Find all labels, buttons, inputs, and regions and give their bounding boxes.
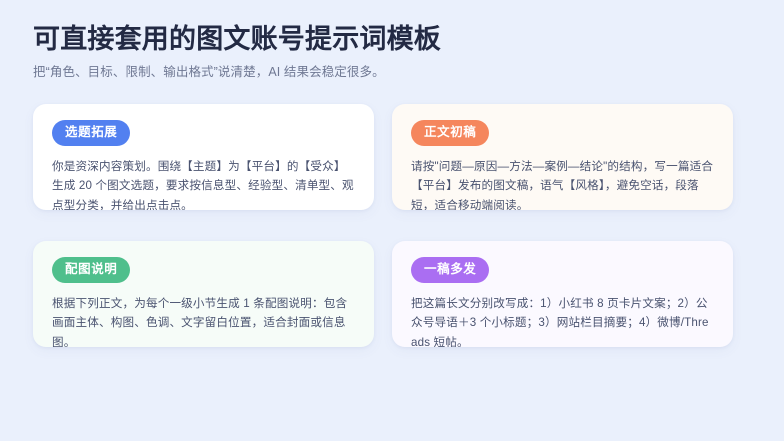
card-body-text: 根据下列正文，为每个一级小节生成 1 条配图说明：包含画面主体、构图、色调、文字… [52,294,355,348]
page-subtitle: 把“角色、目标、限制、输出格式”说清楚，AI 结果会稳定很多。 [33,62,733,82]
prompt-card-image-caption[interactable]: 配图说明 根据下列正文，为每个一级小节生成 1 条配图说明：包含画面主体、构图、… [33,241,374,347]
page-title: 可直接套用的图文账号提示词模板 [33,22,733,56]
prompt-card-multi-publish[interactable]: 一稿多发 把这篇长文分别改写成：1）小红书 8 页卡片文案；2）公众号导语＋3 … [392,241,733,347]
card-badge: 正文初稿 [411,120,489,146]
card-badge: 一稿多发 [411,257,489,283]
card-body-text: 你是资深内容策划。围绕【主题】为【平台】的【受众】生成 20 个图文选题，要求按… [52,157,355,211]
prompt-card-draft[interactable]: 正文初稿 请按"问题—原因—方法—案例—结论"的结构，写一篇适合【平台】发布的图… [392,104,733,210]
card-badge: 配图说明 [52,257,130,283]
card-badge: 选题拓展 [52,120,130,146]
prompt-card-grid: 选题拓展 你是资深内容策划。围绕【主题】为【平台】的【受众】生成 20 个图文选… [33,104,733,347]
prompt-card-topic-expansion[interactable]: 选题拓展 你是资深内容策划。围绕【主题】为【平台】的【受众】生成 20 个图文选… [33,104,374,210]
header: 可直接套用的图文账号提示词模板 把“角色、目标、限制、输出格式”说清楚，AI 结… [33,22,733,82]
card-body-text: 请按"问题—原因—方法—案例—结论"的结构，写一篇适合【平台】发布的图文稿，语气… [411,157,714,211]
card-body-text: 把这篇长文分别改写成：1）小红书 8 页卡片文案；2）公众号导语＋3 个小标题；… [411,294,714,348]
slide-root: 可直接套用的图文账号提示词模板 把“角色、目标、限制、输出格式”说清楚，AI 结… [0,0,784,441]
